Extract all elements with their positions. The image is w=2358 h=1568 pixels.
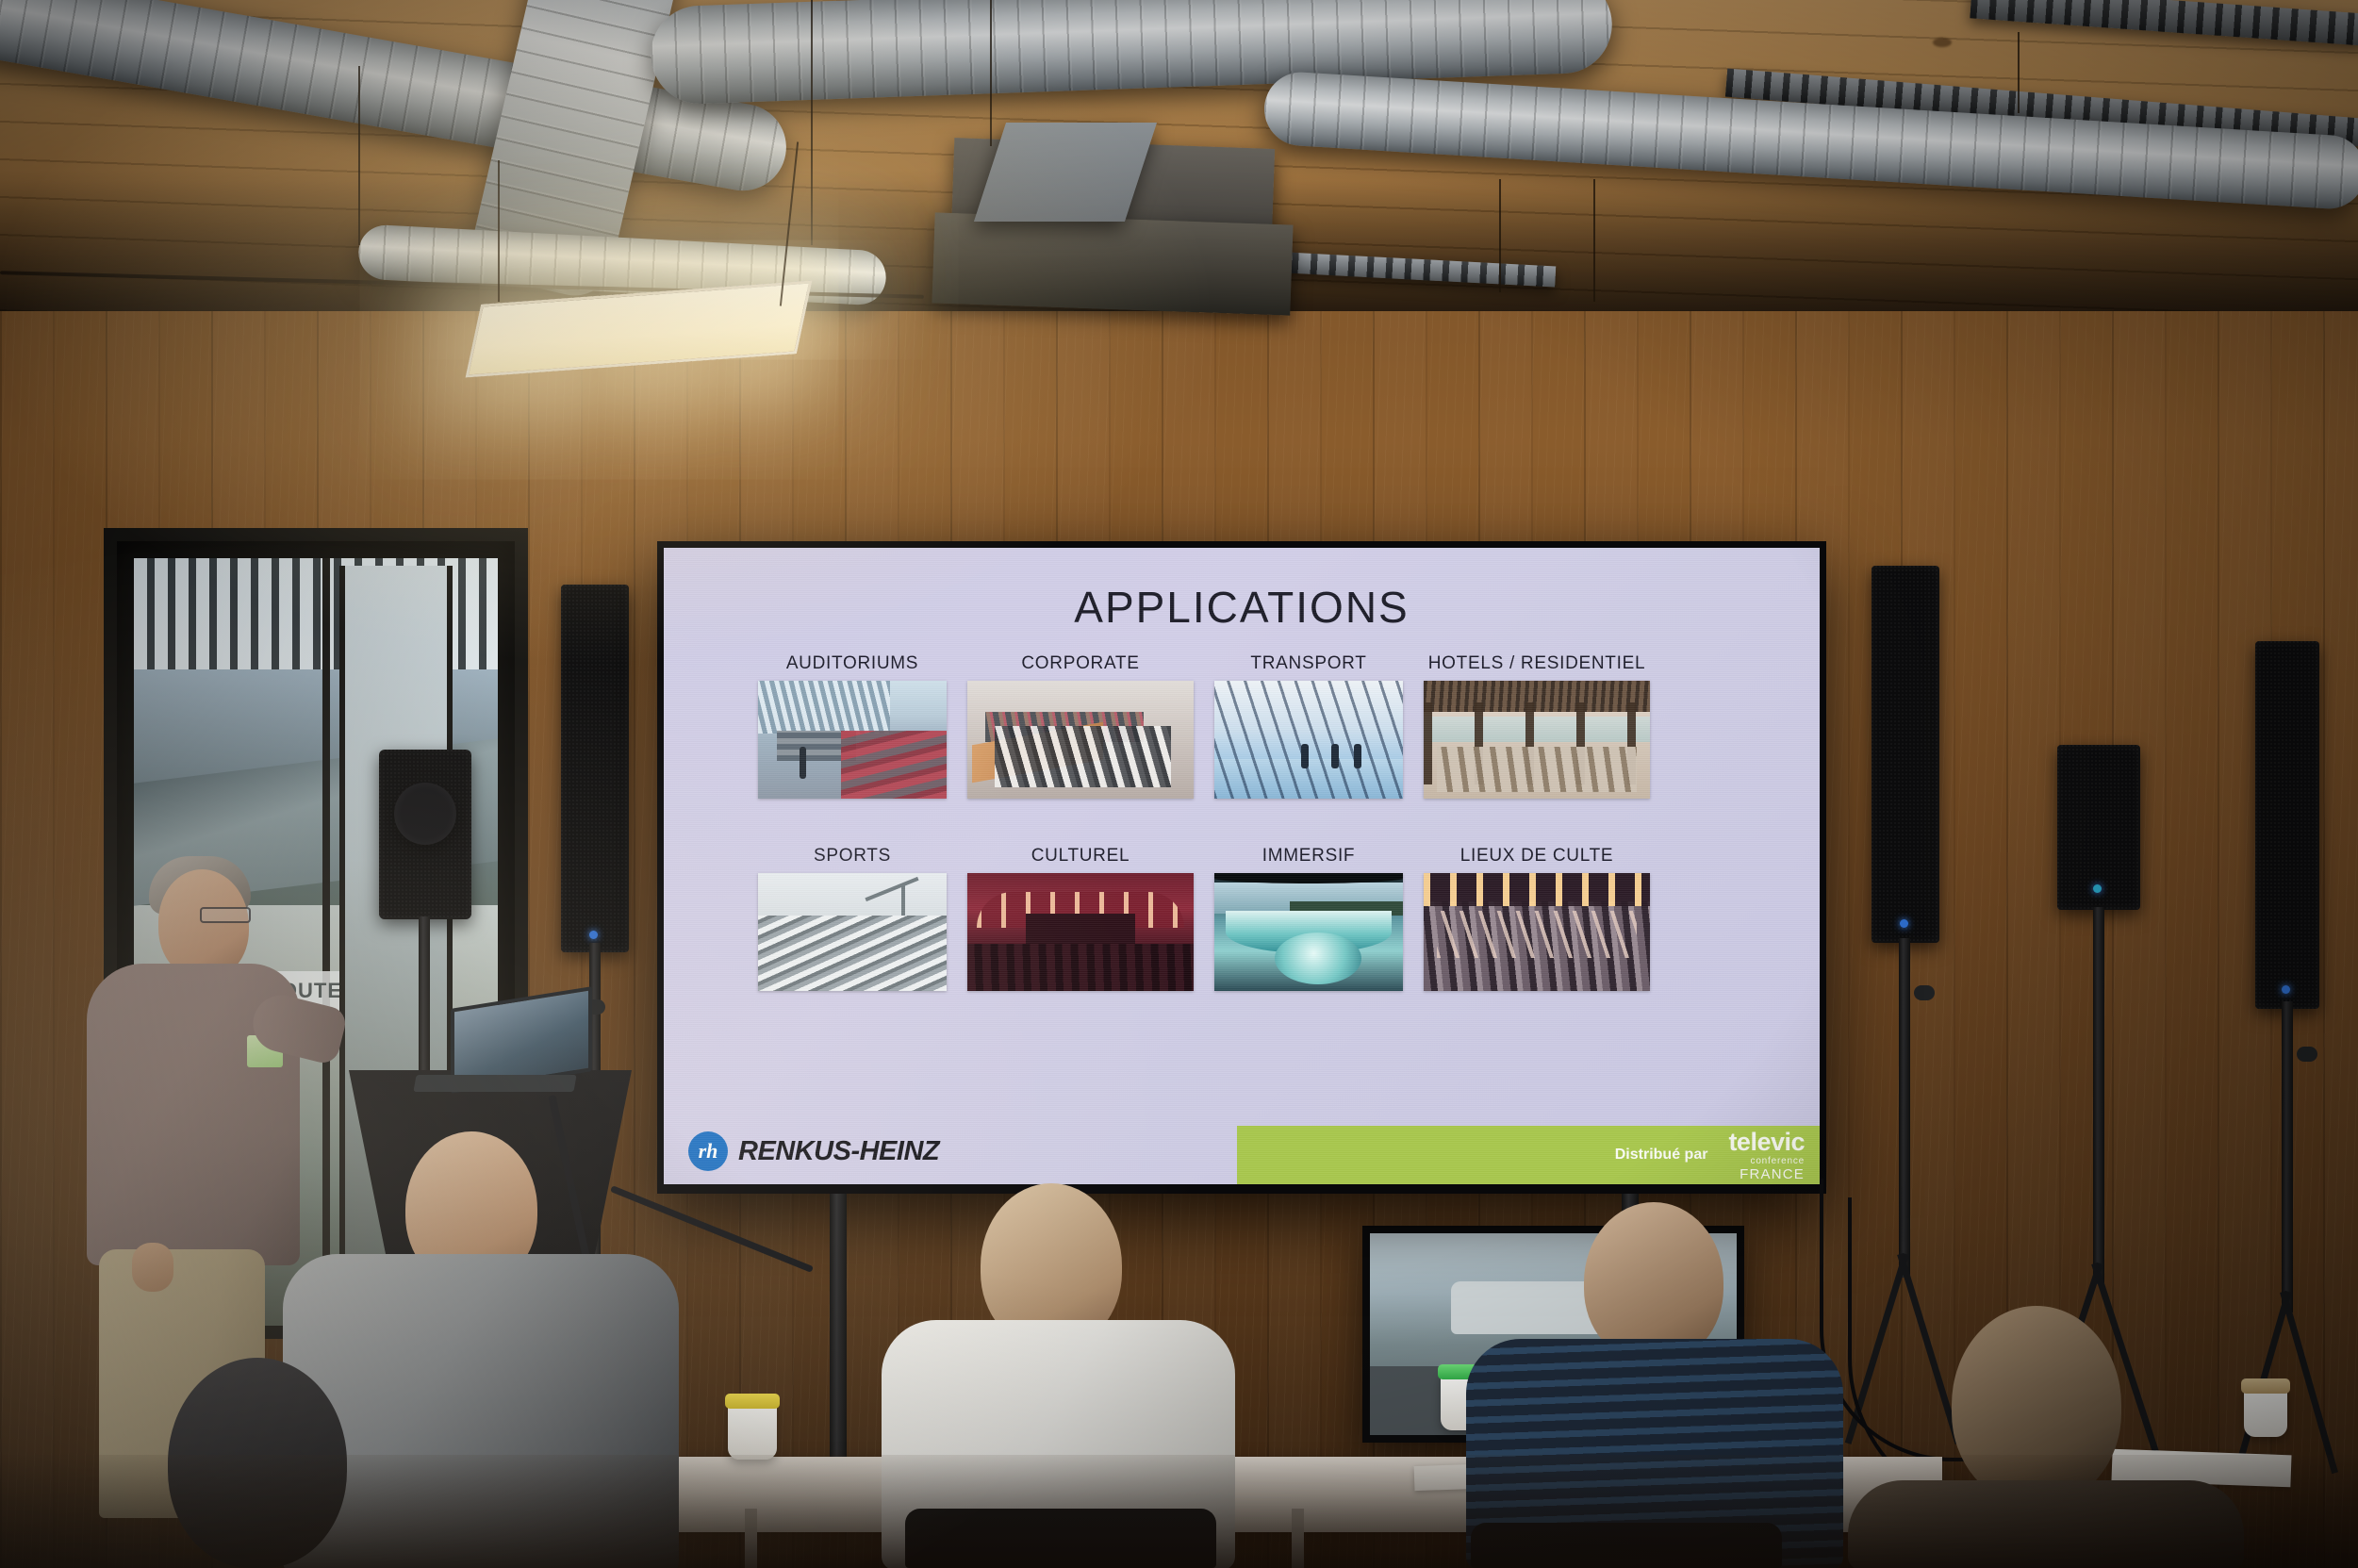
televic-wordmark: televic [1728,1130,1805,1155]
door-mullion [322,558,330,1326]
cell-label: CORPORATE [1021,653,1139,674]
coffee-cup [728,1401,777,1460]
hvac-unit-body [932,212,1293,315]
speaker-stand-pole-r3 [2282,1001,2293,1312]
duct-hanger-wire [2018,32,2020,113]
speaker-stand-pole-r2 [2093,907,2104,1284]
duct-hanger-wire [1499,179,1501,292]
floor [0,1455,2358,1568]
thumb-hotels-residentiel [1424,681,1650,799]
stand-knob [1914,985,1935,1000]
column-array-speaker-right-2 [2255,641,2319,1009]
slide-cell-sports: SPORTS [758,846,947,991]
slide-row-1: AUDITORIUMS CORPORATE TRANSPORT [758,653,1740,799]
conference-room-photo: ROUTE APPLICATIONS [0,0,2358,1568]
cup-lid [725,1394,780,1409]
laptop-keyboard[interactable] [413,1075,576,1092]
column-array-speaker-left [561,585,629,952]
cell-label: IMMERSIF [1262,846,1356,867]
cell-label: CULTUREL [1031,846,1130,867]
duct-hanger-wire [811,0,813,245]
presenter-glasses [200,907,251,923]
coffee-cup [2244,1386,2287,1437]
column-array-speaker-right-1 [1872,566,1939,943]
slide-cell-transport: TRANSPORT [1214,653,1403,799]
thumb-sports [758,873,947,991]
duct-hanger-wire [990,0,992,146]
slide-cell-lieux-de-culte: LIEUX DE CULTE [1424,846,1650,991]
slide-footer: rh RENKUS-HEINZ Distribué par televic co… [664,1124,1820,1184]
cell-label: SPORTS [814,846,891,867]
thumb-culturel [967,873,1194,991]
stand-knob [2297,1047,2317,1062]
televic-subline: conference [1751,1157,1805,1166]
presenter-hand [132,1243,173,1292]
thumb-auditoriums [758,681,947,799]
renkus-heinz-wordmark: RENKUS-HEINZ [738,1136,939,1167]
televic-logo: televic conference FRANCE [1728,1130,1805,1181]
presentation-display[interactable]: APPLICATIONS AUDITORIUMS CORPORATE TR [657,541,1826,1194]
light-suspension-wire [498,160,500,302]
presenter-head [158,869,249,979]
slide-cell-auditoriums: AUDITORIUMS [758,653,947,799]
hvac-diffuser [974,123,1157,222]
distributor-banner: Distribué par televic conference FRANCE [1237,1126,1820,1184]
thumb-corporate [967,681,1194,799]
cell-label: TRANSPORT [1250,653,1366,674]
duct-hanger-wire [358,66,360,245]
slide-canvas: APPLICATIONS AUDITORIUMS CORPORATE TR [664,548,1820,1184]
slide-cell-corporate: CORPORATE [967,653,1194,799]
slide-cell-culturel: CULTUREL [967,846,1194,991]
distributor-prefix: Distribué par [1615,1147,1708,1164]
thumb-transport [1214,681,1403,799]
thumb-immersif [1214,873,1403,991]
rh-badge-icon: rh [688,1131,728,1171]
cell-label: AUDITORIUMS [786,653,918,674]
renkus-heinz-logo: rh RENKUS-HEINZ [688,1131,939,1171]
slide-row-2: SPORTS CULTUREL IMMERSIF [758,846,1740,991]
cup-lid [2241,1378,2290,1394]
cell-label: HOTELS / RESIDENTIEL [1428,653,1645,674]
slide-title: APPLICATIONS [664,582,1820,633]
slide-cell-immersif: IMMERSIF [1214,846,1403,991]
thumb-lieux-de-culte [1424,873,1650,991]
televic-country: FRANCE [1740,1167,1805,1181]
point-source-speaker-right [2057,745,2140,910]
speaker-woofer-cone [394,783,456,845]
duct-hanger-wire [1593,179,1595,302]
ceiling-knot [1933,38,1952,47]
slide-cell-hotels: HOTELS / RESIDENTIEL [1424,653,1650,799]
cell-label: LIEUX DE CULTE [1460,846,1614,867]
